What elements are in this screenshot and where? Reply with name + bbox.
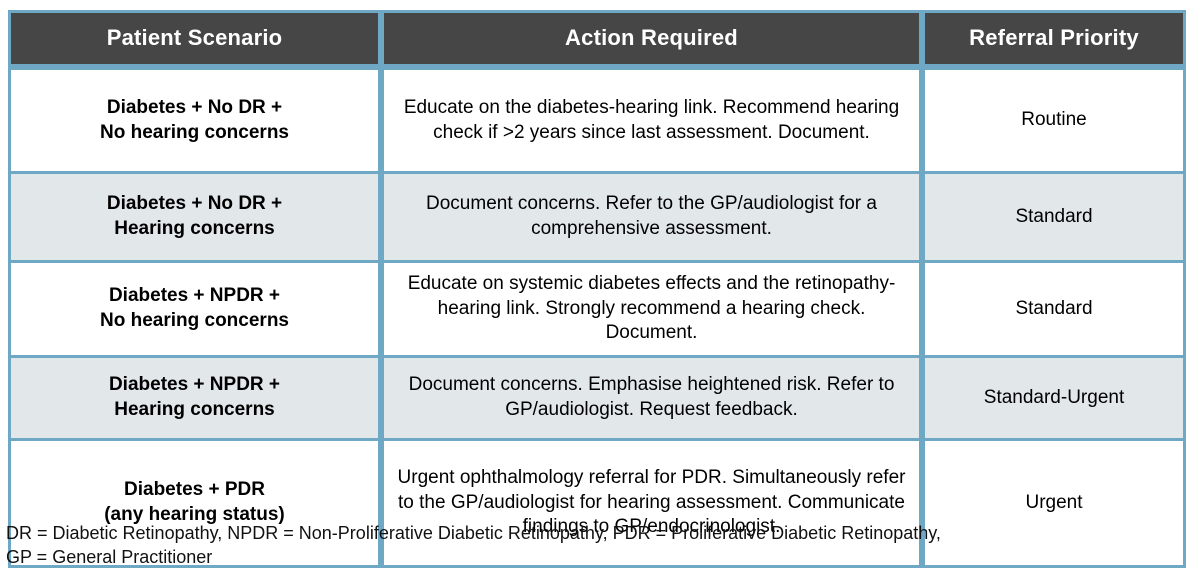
table-row: Diabetes + NPDR + Hearing concerns Docum… [8,358,1186,441]
cell-referral-priority: Standard-Urgent [922,358,1186,441]
table-header-row: Patient Scenario Action Required Referra… [8,10,1186,67]
cell-action-required: Document concerns. Refer to the GP/audio… [381,174,922,263]
cell-referral-priority: Routine [922,67,1186,174]
table-row: Diabetes + NPDR + No hearing concerns Ed… [8,263,1186,358]
cell-referral-priority: Standard [922,263,1186,358]
table-header: Patient Scenario Action Required Referra… [8,10,1186,67]
column-header-patient-scenario: Patient Scenario [8,10,381,67]
table-row: Diabetes + No DR + Hearing concerns Docu… [8,174,1186,263]
cell-patient-scenario: Diabetes + No DR + No hearing concerns [8,67,381,174]
abbreviations-footnote: DR = Diabetic Retinopathy, NPDR = Non-Pr… [6,521,1186,570]
table-body: Diabetes + No DR + No hearing concerns E… [8,67,1186,568]
table-row: Diabetes + No DR + No hearing concerns E… [8,67,1186,174]
cell-patient-scenario: Diabetes + NPDR + No hearing concerns [8,263,381,358]
cell-referral-priority: Standard [922,174,1186,263]
cell-action-required: Educate on the diabetes-hearing link. Re… [381,67,922,174]
referral-matrix-table-wrapper: Patient Scenario Action Required Referra… [8,10,1186,568]
cell-action-required: Document concerns. Emphasise heightened … [381,358,922,441]
page-root: Patient Scenario Action Required Referra… [0,0,1201,575]
cell-action-required: Educate on systemic diabetes effects and… [381,263,922,358]
cell-patient-scenario: Diabetes + No DR + Hearing concerns [8,174,381,263]
column-header-action-required: Action Required [381,10,922,67]
cell-patient-scenario: Diabetes + NPDR + Hearing concerns [8,358,381,441]
referral-matrix-table: Patient Scenario Action Required Referra… [8,10,1186,568]
column-header-referral-priority: Referral Priority [922,10,1186,67]
